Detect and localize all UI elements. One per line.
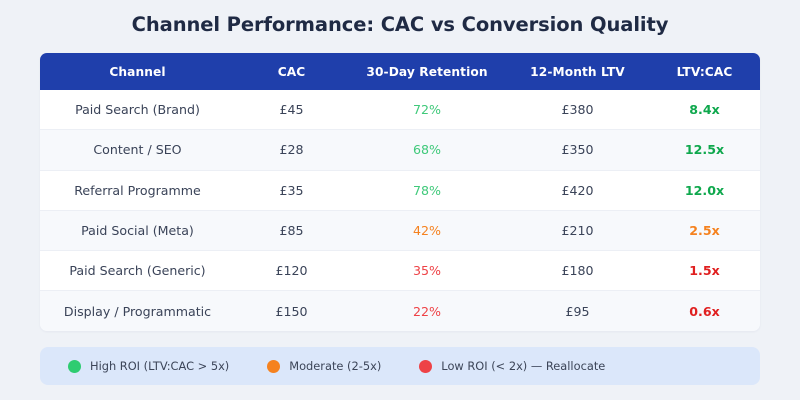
cell-ltv-cac: 2.5x: [649, 210, 760, 250]
cell-retention: 78%: [348, 170, 506, 210]
table-body: Paid Search (Brand) £45 72% £380 8.4x Co…: [40, 90, 760, 331]
cell-ltv-cac: 12.5x: [649, 130, 760, 170]
circle-icon: [419, 360, 432, 373]
cell-retention: 22%: [348, 291, 506, 331]
cell-ltv: £380: [506, 90, 649, 130]
cell-ltv-cac: 1.5x: [649, 251, 760, 291]
cell-cac: £28: [235, 130, 348, 170]
table-row: Paid Search (Brand) £45 72% £380 8.4x: [40, 90, 760, 130]
page-title: Channel Performance: CAC vs Conversion Q…: [0, 12, 800, 38]
cell-ltv-cac: 12.0x: [649, 170, 760, 210]
cell-cac: £35: [235, 170, 348, 210]
cell-ltv-cac: 8.4x: [649, 90, 760, 130]
circle-icon: [68, 360, 81, 373]
table-row: Content / SEO £28 68% £350 12.5x: [40, 130, 760, 170]
cell-channel: Paid Social (Meta): [40, 210, 235, 250]
performance-table: Channel CAC 30-Day Retention 12-Month LT…: [40, 53, 760, 331]
cell-retention: 42%: [348, 210, 506, 250]
circle-icon: [267, 360, 280, 373]
cell-ltv: £210: [506, 210, 649, 250]
legend: High ROI (LTV:CAC > 5x) Moderate (2-5x) …: [40, 347, 760, 385]
legend-label: High ROI (LTV:CAC > 5x): [90, 359, 229, 373]
cell-channel: Paid Search (Brand): [40, 90, 235, 130]
column-header-retention[interactable]: 30-Day Retention: [348, 53, 506, 90]
cell-cac: £120: [235, 251, 348, 291]
cell-channel: Display / Programmatic: [40, 291, 235, 331]
column-header-cac[interactable]: CAC: [235, 53, 348, 90]
cell-cac: £45: [235, 90, 348, 130]
table-row: Paid Search (Generic) £120 35% £180 1.5x: [40, 251, 760, 291]
cell-channel: Referral Programme: [40, 170, 235, 210]
column-header-ltv-cac[interactable]: LTV:CAC: [649, 53, 760, 90]
legend-item-low-roi: Low ROI (< 2x) — Reallocate: [419, 359, 605, 373]
cell-ltv: £350: [506, 130, 649, 170]
cell-retention: 72%: [348, 90, 506, 130]
table-row: Referral Programme £35 78% £420 12.0x: [40, 170, 760, 210]
cell-ltv: £95: [506, 291, 649, 331]
table-header-row: Channel CAC 30-Day Retention 12-Month LT…: [40, 53, 760, 90]
cell-retention: 35%: [348, 251, 506, 291]
table-row: Paid Social (Meta) £85 42% £210 2.5x: [40, 210, 760, 250]
cell-ltv-cac: 0.6x: [649, 291, 760, 331]
cell-channel: Content / SEO: [40, 130, 235, 170]
column-header-ltv[interactable]: 12-Month LTV: [506, 53, 649, 90]
column-header-channel[interactable]: Channel: [40, 53, 235, 90]
legend-label: Moderate (2-5x): [289, 359, 381, 373]
cell-retention: 68%: [348, 130, 506, 170]
page-root: Channel Performance: CAC vs Conversion Q…: [0, 0, 800, 400]
cell-ltv: £180: [506, 251, 649, 291]
table-row: Display / Programmatic £150 22% £95 0.6x: [40, 291, 760, 331]
cell-ltv: £420: [506, 170, 649, 210]
legend-label: Low ROI (< 2x) — Reallocate: [441, 359, 605, 373]
cell-channel: Paid Search (Generic): [40, 251, 235, 291]
performance-table-container: Channel CAC 30-Day Retention 12-Month LT…: [40, 53, 760, 331]
cell-cac: £85: [235, 210, 348, 250]
legend-item-high-roi: High ROI (LTV:CAC > 5x): [68, 359, 229, 373]
legend-item-moderate: Moderate (2-5x): [267, 359, 381, 373]
cell-cac: £150: [235, 291, 348, 331]
table-header: Channel CAC 30-Day Retention 12-Month LT…: [40, 53, 760, 90]
